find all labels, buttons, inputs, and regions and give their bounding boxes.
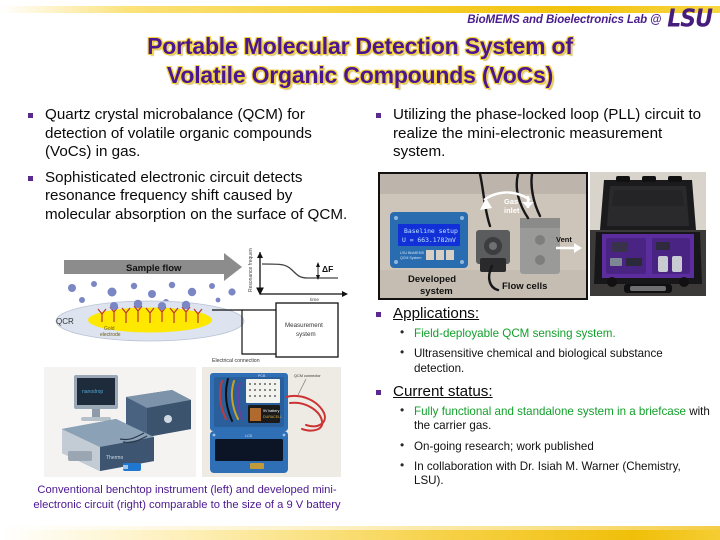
slide-title: Portable Molecular Detection System of V… bbox=[0, 32, 720, 91]
flow-cells-label: Flow cells bbox=[502, 281, 547, 292]
applications-items: Field-deployable QCM sensing system. Ult… bbox=[393, 327, 712, 376]
applications-item-1: Field-deployable QCM sensing system. bbox=[393, 327, 712, 341]
header-brand: BioMEMS and Bioelectronics Lab @ LSU bbox=[467, 9, 712, 31]
right-bullet-list-top: Utilizing the phase-locked loop (PLL) ci… bbox=[366, 106, 712, 162]
developed-system-label-1: Developed bbox=[408, 274, 456, 285]
slide-title-line-1: Portable Molecular Detection System of bbox=[0, 32, 720, 61]
current-status-heading-label: Current status: bbox=[393, 383, 493, 400]
lcd-line-1: Baseline setup bbox=[404, 227, 458, 235]
frequency-shift-plot: ΔF time Resonance frequency bbox=[248, 248, 348, 303]
time-axis-label: time bbox=[310, 297, 319, 303]
pcb-label: PCB bbox=[258, 374, 266, 378]
right-sections: Applications: Field-deployable QCM sensi… bbox=[366, 305, 712, 496]
lcd-subtext-1: LSU BioMEMS bbox=[400, 251, 425, 255]
lcd-label: LCD bbox=[245, 434, 253, 438]
case-lid bbox=[600, 176, 696, 230]
system-lcd-enclosure: Baseline setup U = 663.1782mV LSU BioMEM… bbox=[390, 212, 468, 268]
gas-inlet-label-2: inlet bbox=[504, 206, 520, 215]
current-status-item-1: Fully functional and standalone system i… bbox=[393, 405, 712, 434]
current-status-section: Current status: Fully functional and sta… bbox=[366, 383, 712, 489]
applications-heading-label: Applications: bbox=[393, 305, 479, 322]
battery-label: 9V battery bbox=[263, 409, 280, 413]
flow-cells-block bbox=[520, 218, 560, 274]
svg-text:Sample flow: Sample flow bbox=[126, 263, 182, 274]
slide-title-line-2: Volatile Organic Compounds (VoCs) bbox=[0, 61, 720, 90]
electrical-connection-label: Electrical connection bbox=[212, 358, 260, 364]
svg-text:electrode: electrode bbox=[100, 332, 121, 338]
conventional-benchtop-instrument-photo: nanodrop Thermo bbox=[44, 367, 196, 477]
applications-item-1-label: Field-deployable QCM sensing system. bbox=[414, 327, 616, 340]
pcb-breadboard bbox=[246, 379, 280, 403]
current-status-items: Fully functional and standalone system i… bbox=[393, 405, 712, 489]
current-status-item-3: In collaboration with Dr. Isiah M. Warne… bbox=[393, 460, 712, 489]
left-bullet-list: Quartz crystal microbalance (QCM) for de… bbox=[18, 106, 362, 224]
qcr-label: QCR bbox=[56, 317, 74, 326]
gas-inlet-label-1: Gas bbox=[504, 197, 518, 206]
case-base bbox=[594, 232, 702, 284]
lcd-subtext-2: QCM System bbox=[400, 256, 421, 260]
brand-label: BioMEMS and Bioelectronics Lab @ bbox=[467, 14, 661, 26]
applications-section: Applications: Field-deployable QCM sensi… bbox=[366, 305, 712, 376]
qcm-schematic-diagram: Sample flow QCR Gold el bbox=[46, 248, 356, 366]
vent-label: Vent bbox=[556, 235, 572, 244]
developed-system-photo: Baseline setup U = 663.1782mV LSU BioMEM… bbox=[378, 172, 588, 300]
left-photo-caption: Conventional benchtop instrument (left) … bbox=[22, 483, 352, 513]
sample-flow-arrow: Sample flow bbox=[64, 253, 242, 281]
current-status-heading: Current status: Fully functional and sta… bbox=[366, 383, 712, 489]
measurement-system-label: Measurement bbox=[285, 322, 323, 329]
left-column: Quartz crystal microbalance (QCM) for de… bbox=[18, 106, 362, 231]
right-column: Utilizing the phase-locked loop (PLL) ci… bbox=[366, 106, 712, 169]
svg-text:DURACELL: DURACELL bbox=[263, 415, 282, 419]
qcm-connector-label: QCM connector bbox=[294, 374, 321, 378]
svg-text:Thermo: Thermo bbox=[106, 455, 123, 461]
current-status-item-2: On-going research; work published bbox=[393, 440, 712, 454]
applications-heading: Applications: Field-deployable QCM sensi… bbox=[366, 305, 712, 376]
current-status-item-1-green: Fully functional and standalone system i… bbox=[414, 405, 686, 418]
briefcase-photo bbox=[590, 172, 706, 296]
right-bullet-1: Utilizing the phase-locked loop (PLL) ci… bbox=[366, 106, 712, 162]
svg-text:system: system bbox=[296, 331, 316, 338]
resonance-frequency-axis-label: Resonance frequency bbox=[248, 248, 254, 292]
left-bullet-2: Sophisticated electronic circuit detects… bbox=[18, 169, 362, 225]
left-bullet-1: Quartz crystal microbalance (QCM) for de… bbox=[18, 106, 362, 162]
svg-text:nanodrop: nanodrop bbox=[82, 389, 103, 395]
lcd-line-2: U = 663.1782mV bbox=[402, 236, 456, 244]
developed-system-label-2: system bbox=[420, 286, 453, 297]
mini-electronic-circuit-photo: PCB 9V battery DURACELL QCM connector LC… bbox=[202, 367, 341, 477]
delta-f-label: ΔF bbox=[322, 264, 333, 274]
applications-item-2: Ultrasensitive chemical and biological s… bbox=[393, 347, 712, 376]
lsu-logo: LSU bbox=[667, 8, 712, 33]
bottom-gold-bar bbox=[0, 530, 720, 540]
